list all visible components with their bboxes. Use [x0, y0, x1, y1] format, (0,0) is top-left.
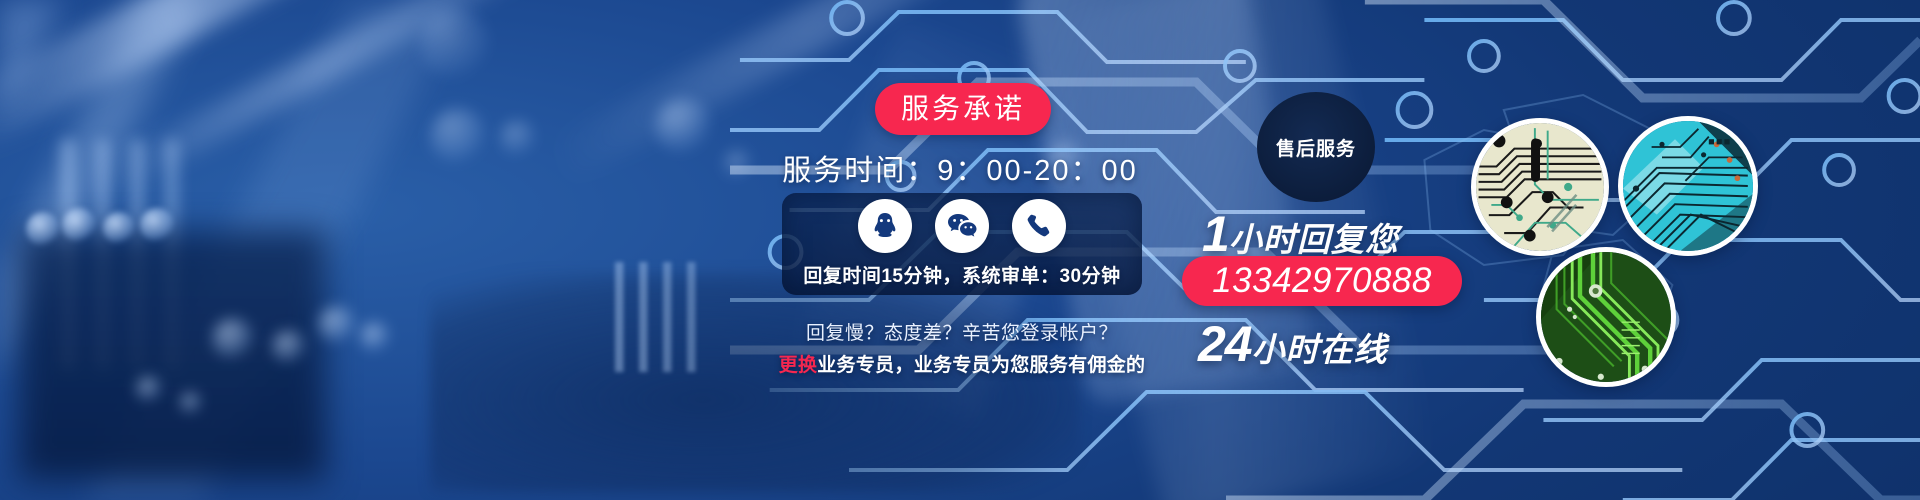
service-promise-badge-label: 服务承诺 — [901, 95, 1025, 123]
photo-pcb-green — [1536, 247, 1676, 387]
qq-icon[interactable] — [858, 199, 912, 253]
service-promise-badge[interactable]: 服务承诺 — [875, 83, 1051, 135]
slogan-one-hour: 1小时回复您 — [1202, 205, 1399, 263]
slogan-24-hour-number: 24 — [1198, 316, 1252, 372]
photo-pcb-cyan — [1618, 116, 1758, 256]
photo-pcb-cream — [1471, 118, 1609, 256]
service-promise-banner: 服务承诺 服务时间：9：00-20：00 — [0, 0, 1920, 500]
slogan-one-hour-number: 1 — [1202, 206, 1229, 262]
cta-highlight: 更换 — [779, 355, 818, 376]
phone-number-text: 13342970888 — [1212, 261, 1432, 301]
contact-icon-row — [782, 199, 1142, 253]
aftersale-label: 售后服务 — [1276, 134, 1356, 161]
slogan-24-hour-text: 小时在线 — [1252, 331, 1388, 368]
wechat-icon[interactable] — [935, 199, 989, 253]
background-board-foreground — [430, 272, 1080, 492]
service-time-text: 服务时间：9：00-20：00 — [640, 147, 1280, 189]
background-dark-block — [19, 230, 326, 480]
slogan-one-hour-text: 小时回复您 — [1229, 221, 1399, 258]
aftersale-circle: 售后服务 — [1257, 92, 1375, 202]
phone-number-badge[interactable]: 13342970888 — [1182, 256, 1462, 306]
slogan-24-hour: 24小时在线 — [1198, 315, 1388, 373]
question-text: 回复慢？态度差？辛苦您登录帐户？ — [662, 318, 1262, 345]
reply-time-text: 回复时间15分钟，系统审单：30分钟 — [662, 261, 1262, 288]
cta-rest: 业务专员，业务专员为您服务有佣金的 — [817, 355, 1145, 376]
phone-icon[interactable] — [1012, 199, 1066, 253]
